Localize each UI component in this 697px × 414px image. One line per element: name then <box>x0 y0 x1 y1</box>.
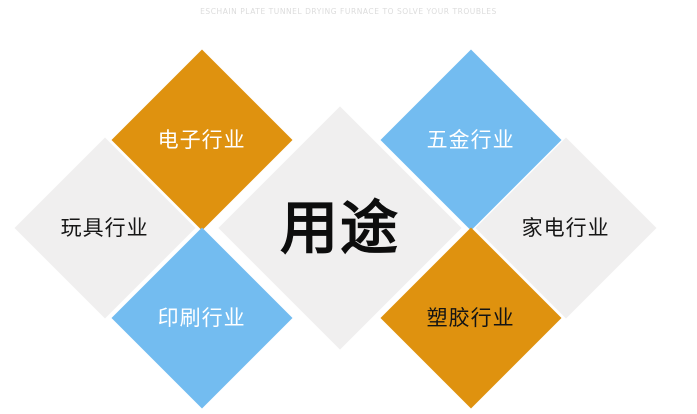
diamond-label-usage: 用途 <box>280 199 400 257</box>
diamond-lattice-diagram: 玩具行业 家电行业 用途 电子行业 五金行业 印刷行业 塑胶行业 <box>0 0 697 414</box>
diamond-label-toys: 玩具行业 <box>61 218 149 239</box>
diamond-label-hardware: 五金行业 <box>427 130 515 151</box>
usage-diagram-page: ESCHAIN PLATE TUNNEL DRYING FURNACE TO S… <box>0 0 697 414</box>
diamond-label-appliance: 家电行业 <box>522 218 610 239</box>
diamond-label-electronics: 电子行业 <box>158 130 246 151</box>
diamond-label-printing: 印刷行业 <box>158 308 246 329</box>
diamond-label-plastic: 塑胶行业 <box>427 308 515 329</box>
